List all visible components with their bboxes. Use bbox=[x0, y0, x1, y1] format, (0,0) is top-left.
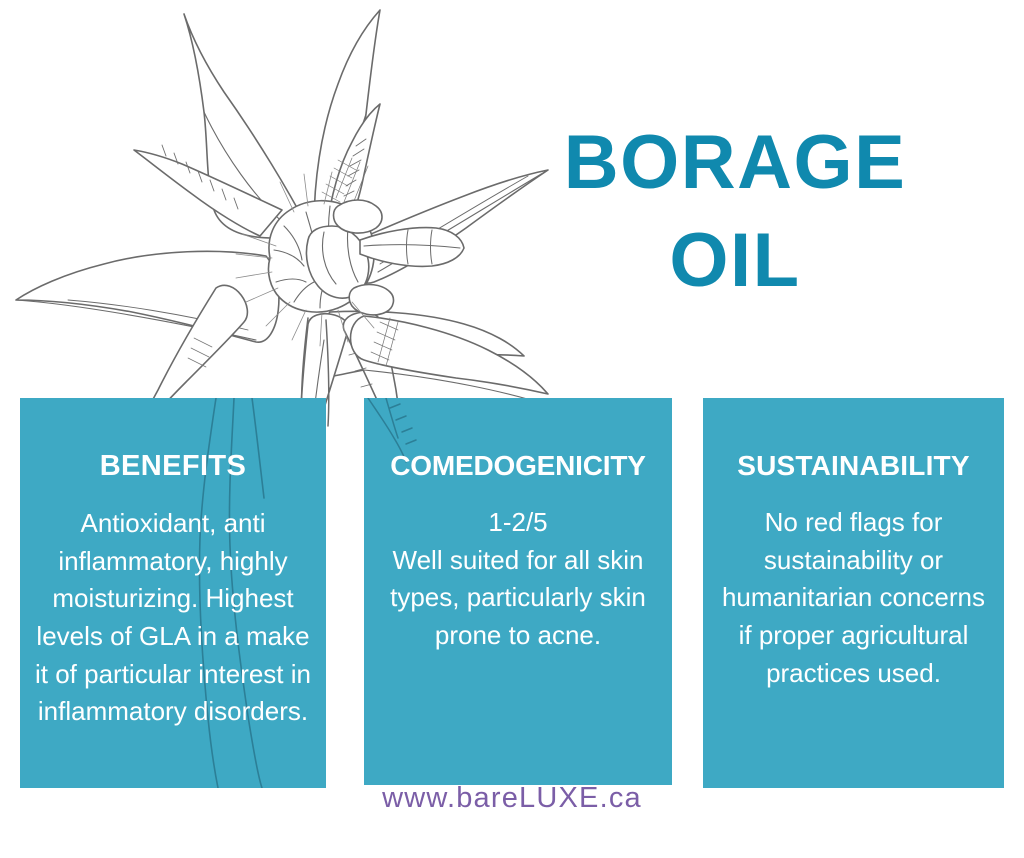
card-comedogenicity: COMEDOGENICITY 1-2/5 Well suited for all… bbox=[364, 398, 672, 785]
card-body-comedogenicity: 1-2/5 Well suited for all skin types, pa… bbox=[372, 482, 664, 655]
card-heading-comedogenicity: COMEDOGENICITY bbox=[372, 398, 664, 482]
title-line-2: OIL bbox=[500, 224, 970, 298]
card-body-benefits: Antioxidant, anti inflammatory, highly m… bbox=[28, 483, 318, 731]
card-body-sustainability: No red flags for sustainability or human… bbox=[711, 482, 996, 692]
infographic-canvas: BORAGE OIL BENEFITS Antioxidant, anti in… bbox=[0, 0, 1024, 858]
card-sustainability: SUSTAINABILITY No red flags for sustaina… bbox=[703, 398, 1004, 788]
page-title: BORAGE OIL bbox=[500, 126, 970, 299]
card-benefits: BENEFITS Antioxidant, anti inflammatory,… bbox=[20, 398, 326, 788]
card-heading-benefits: BENEFITS bbox=[28, 398, 318, 483]
title-line-1: BORAGE bbox=[500, 126, 970, 200]
card-heading-sustainability: SUSTAINABILITY bbox=[711, 398, 996, 482]
comedogenicity-description: Well suited for all skin types, particul… bbox=[390, 545, 646, 650]
website-url[interactable]: www.bareLUXE.ca bbox=[0, 782, 1024, 815]
comedogenicity-rating: 1-2/5 bbox=[376, 504, 660, 542]
